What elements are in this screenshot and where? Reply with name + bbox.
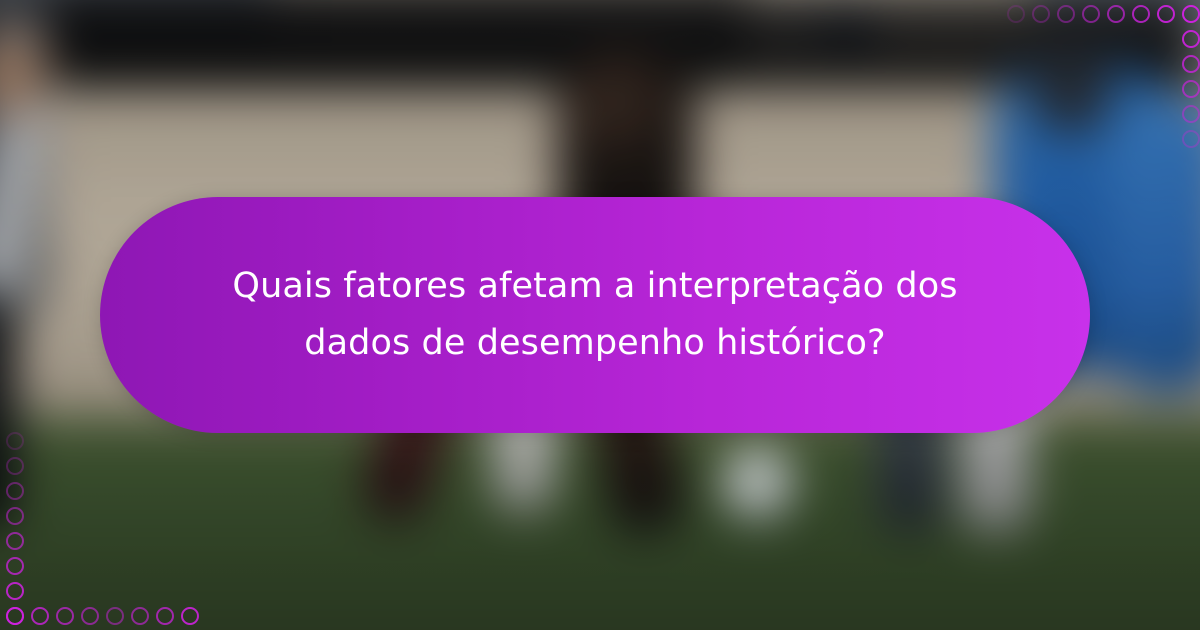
decor-dot-right-col-4 (1182, 130, 1200, 148)
question-text: Quais fatores afetam a interpretação dos… (215, 258, 975, 372)
decor-dot-bottom-row-3 (81, 607, 99, 625)
decor-dot-top-row-5 (1132, 5, 1150, 23)
decor-dot-top-row-1 (1032, 5, 1050, 23)
decor-dot-bottom-row-5 (131, 607, 149, 625)
decor-dot-left-col-4 (6, 507, 24, 525)
social-card-canvas: Quais fatores afetam a interpretação dos… (0, 0, 1200, 630)
decor-dot-top-row-0 (1007, 5, 1025, 23)
decor-dot-bottom-row-2 (56, 607, 74, 625)
decor-dot-bottom-row-0 (6, 607, 24, 625)
decor-dot-left-col-6 (6, 457, 24, 475)
decor-dot-top-row-3 (1082, 5, 1100, 23)
decor-dot-left-col-5 (6, 482, 24, 500)
decor-dot-right-col-0 (1182, 30, 1200, 48)
decor-dot-right-col-3 (1182, 105, 1200, 123)
decor-dots-bottom-left (0, 415, 210, 630)
decor-dot-top-row-6 (1157, 5, 1175, 23)
decor-dot-left-col-2 (6, 557, 24, 575)
decor-dot-bottom-row-7 (181, 607, 199, 625)
decor-dot-top-row-4 (1107, 5, 1125, 23)
decor-dot-right-col-2 (1182, 80, 1200, 98)
player-center-head (575, 57, 656, 144)
question-card: Quais fatores afetam a interpretação dos… (100, 197, 1090, 433)
decor-dot-bottom-row-6 (156, 607, 174, 625)
decor-dot-left-col-3 (6, 532, 24, 550)
decor-dot-left-col-1 (6, 582, 24, 600)
soccer-ball (723, 448, 793, 518)
decor-dot-bottom-row-4 (106, 607, 124, 625)
decor-dot-top-row-2 (1057, 5, 1075, 23)
decor-dots-top-right (990, 0, 1200, 145)
decor-dot-bottom-row-1 (31, 607, 49, 625)
decor-dot-left-col-7 (6, 432, 24, 450)
decor-dot-right-col-1 (1182, 55, 1200, 73)
decor-dot-top-row-7 (1182, 5, 1200, 23)
